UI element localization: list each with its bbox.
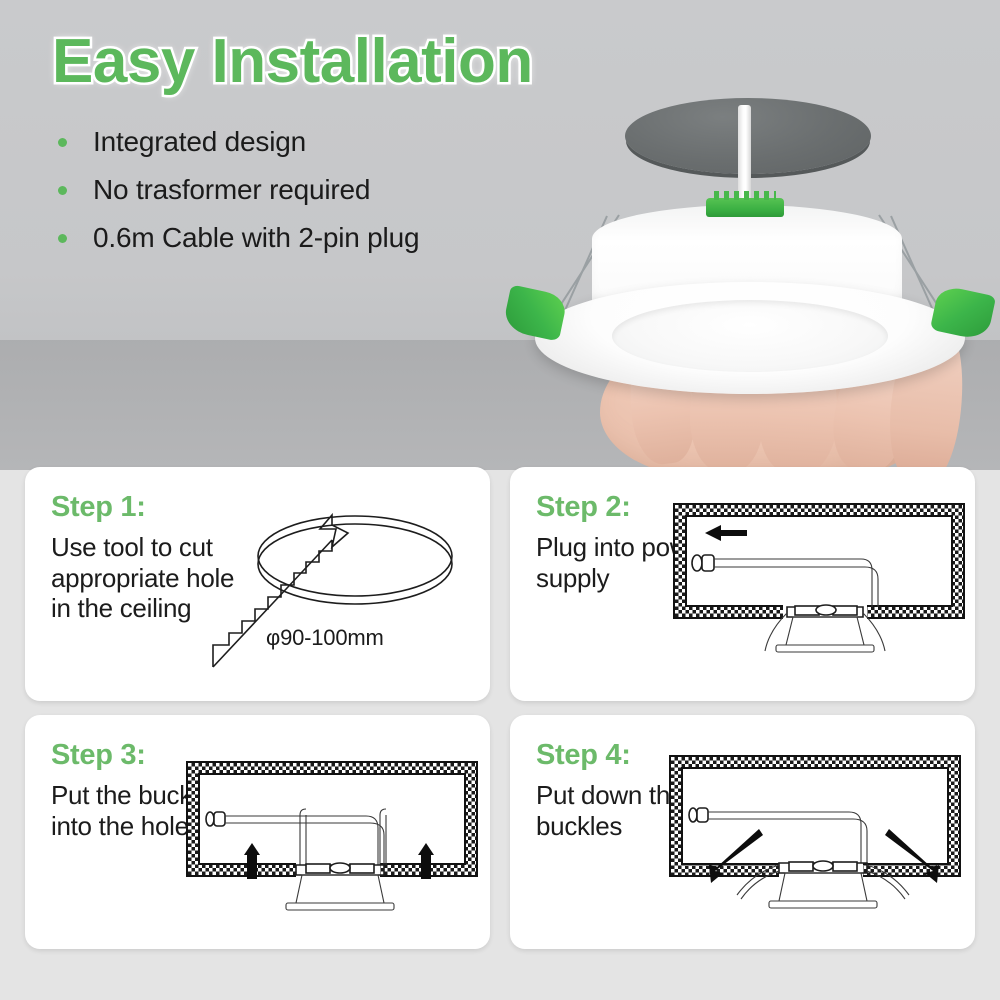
hero-banner: Easy Installation Integrated design No t… bbox=[0, 0, 1000, 470]
feature-text: No trasformer required bbox=[93, 174, 370, 206]
step-card-2: Step 2: Plug into power supply bbox=[510, 467, 975, 701]
bullet-dot-icon bbox=[58, 234, 67, 243]
list-item: 0.6m Cable with 2-pin plug bbox=[58, 214, 419, 262]
arrow-left-icon bbox=[705, 525, 747, 541]
arrow-down-right-icon bbox=[885, 829, 939, 883]
step-3-illustration bbox=[190, 715, 490, 949]
list-item: No trasformer required bbox=[58, 166, 419, 214]
saw-and-hole-drawing bbox=[180, 467, 480, 701]
page-title: Easy Installation bbox=[52, 26, 533, 97]
arrow-down-left-icon bbox=[709, 829, 763, 883]
green-cable-connector bbox=[706, 198, 784, 217]
bullet-dot-icon bbox=[58, 138, 67, 147]
step-1-illustration: φ90-100mm bbox=[180, 467, 480, 701]
feature-text: Integrated design bbox=[93, 126, 306, 158]
fixture-buckles-up-drawing bbox=[190, 715, 490, 949]
cable-and-fixture-drawing-2 bbox=[675, 467, 975, 701]
hole-diameter-label: φ90-100mm bbox=[266, 625, 384, 651]
infographic-page: Easy Installation Integrated design No t… bbox=[0, 0, 1000, 1000]
arrow-up-icon-left bbox=[244, 843, 260, 879]
step-2-illustration bbox=[675, 467, 975, 701]
feature-list: Integrated design No trasformer required… bbox=[58, 118, 419, 262]
step-card-1: Step 1: Use tool to cut appropriate hole… bbox=[25, 467, 490, 701]
list-item: Integrated design bbox=[58, 118, 419, 166]
feature-text: 0.6m Cable with 2-pin plug bbox=[93, 222, 419, 254]
page-footer-strip bbox=[0, 968, 1000, 1000]
steps-grid: Step 1: Use tool to cut appropriate hole… bbox=[25, 467, 975, 968]
bullet-dot-icon bbox=[58, 186, 67, 195]
downlight-diffuser bbox=[612, 300, 888, 372]
step-card-3: Step 3: Put the buckles into the hole bbox=[25, 715, 490, 949]
step-card-4: Step 4: Put down the buckles bbox=[510, 715, 975, 949]
arrow-up-icon-right bbox=[418, 843, 434, 879]
fixture-buckles-down-drawing bbox=[675, 715, 975, 949]
step-4-illustration bbox=[675, 715, 975, 949]
